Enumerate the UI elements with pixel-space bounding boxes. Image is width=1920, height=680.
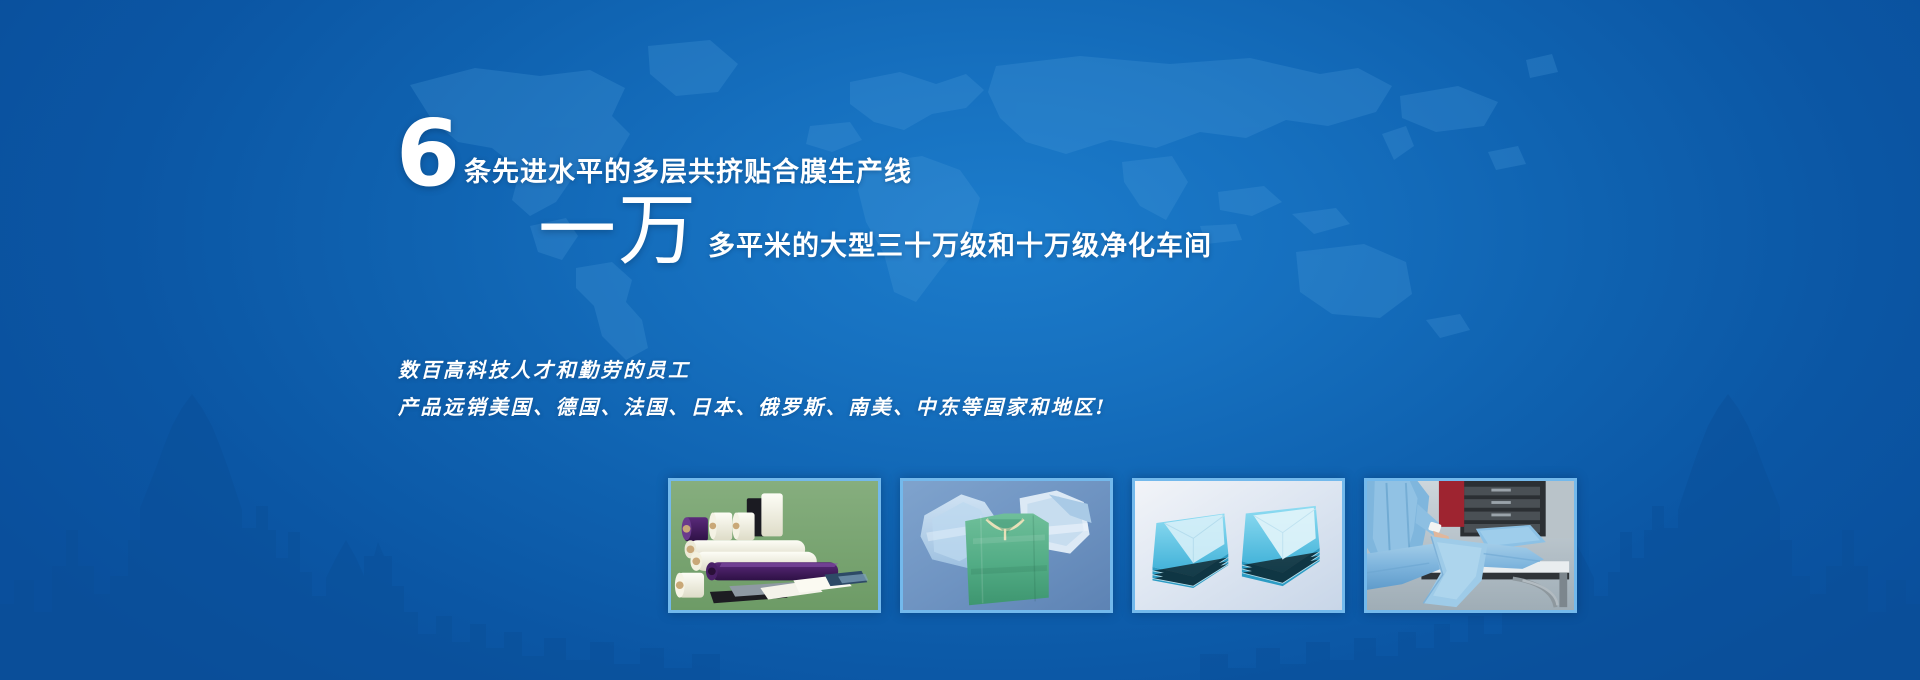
headline-1-number: 6 <box>396 112 458 197</box>
promo-banner: 6 条先进水平的多层共挤贴合膜生产线 一万 多平米的大型三十万级和十万级净化车间… <box>0 0 1920 680</box>
headline-group: 6 条先进水平的多层共挤贴合膜生产线 一万 多平米的大型三十万级和十万级净化车间… <box>0 0 1920 450</box>
operating-room-photo[interactable] <box>1364 478 1577 613</box>
product-photo-strip <box>668 478 1577 613</box>
film-rolls-photo[interactable] <box>668 478 881 613</box>
headline-line-1: 6 条先进水平的多层共挤贴合膜生产线 <box>396 112 912 197</box>
tagline-line-2: 产品远销美国、德国、法国、日本、俄罗斯、南美、中东等国家和地区! <box>398 389 1107 426</box>
headline-line-2: 一万 多平米的大型三十万级和十万级净化车间 <box>538 196 1212 268</box>
tagline-line-1: 数百高科技人才和勤劳的员工 <box>398 352 1107 389</box>
headline-2-number: 一万 <box>538 196 698 268</box>
surgical-gowns-photo[interactable] <box>900 478 1113 613</box>
tagline-paragraph: 数百高科技人才和勤劳的员工 产品远销美国、德国、法国、日本、俄罗斯、南美、中东等… <box>398 352 1107 426</box>
medical-drapes-photo[interactable] <box>1132 478 1345 613</box>
headline-1-text: 条先进水平的多层共挤贴合膜生产线 <box>464 150 912 189</box>
headline-2-text: 多平米的大型三十万级和十万级净化车间 <box>708 224 1212 263</box>
